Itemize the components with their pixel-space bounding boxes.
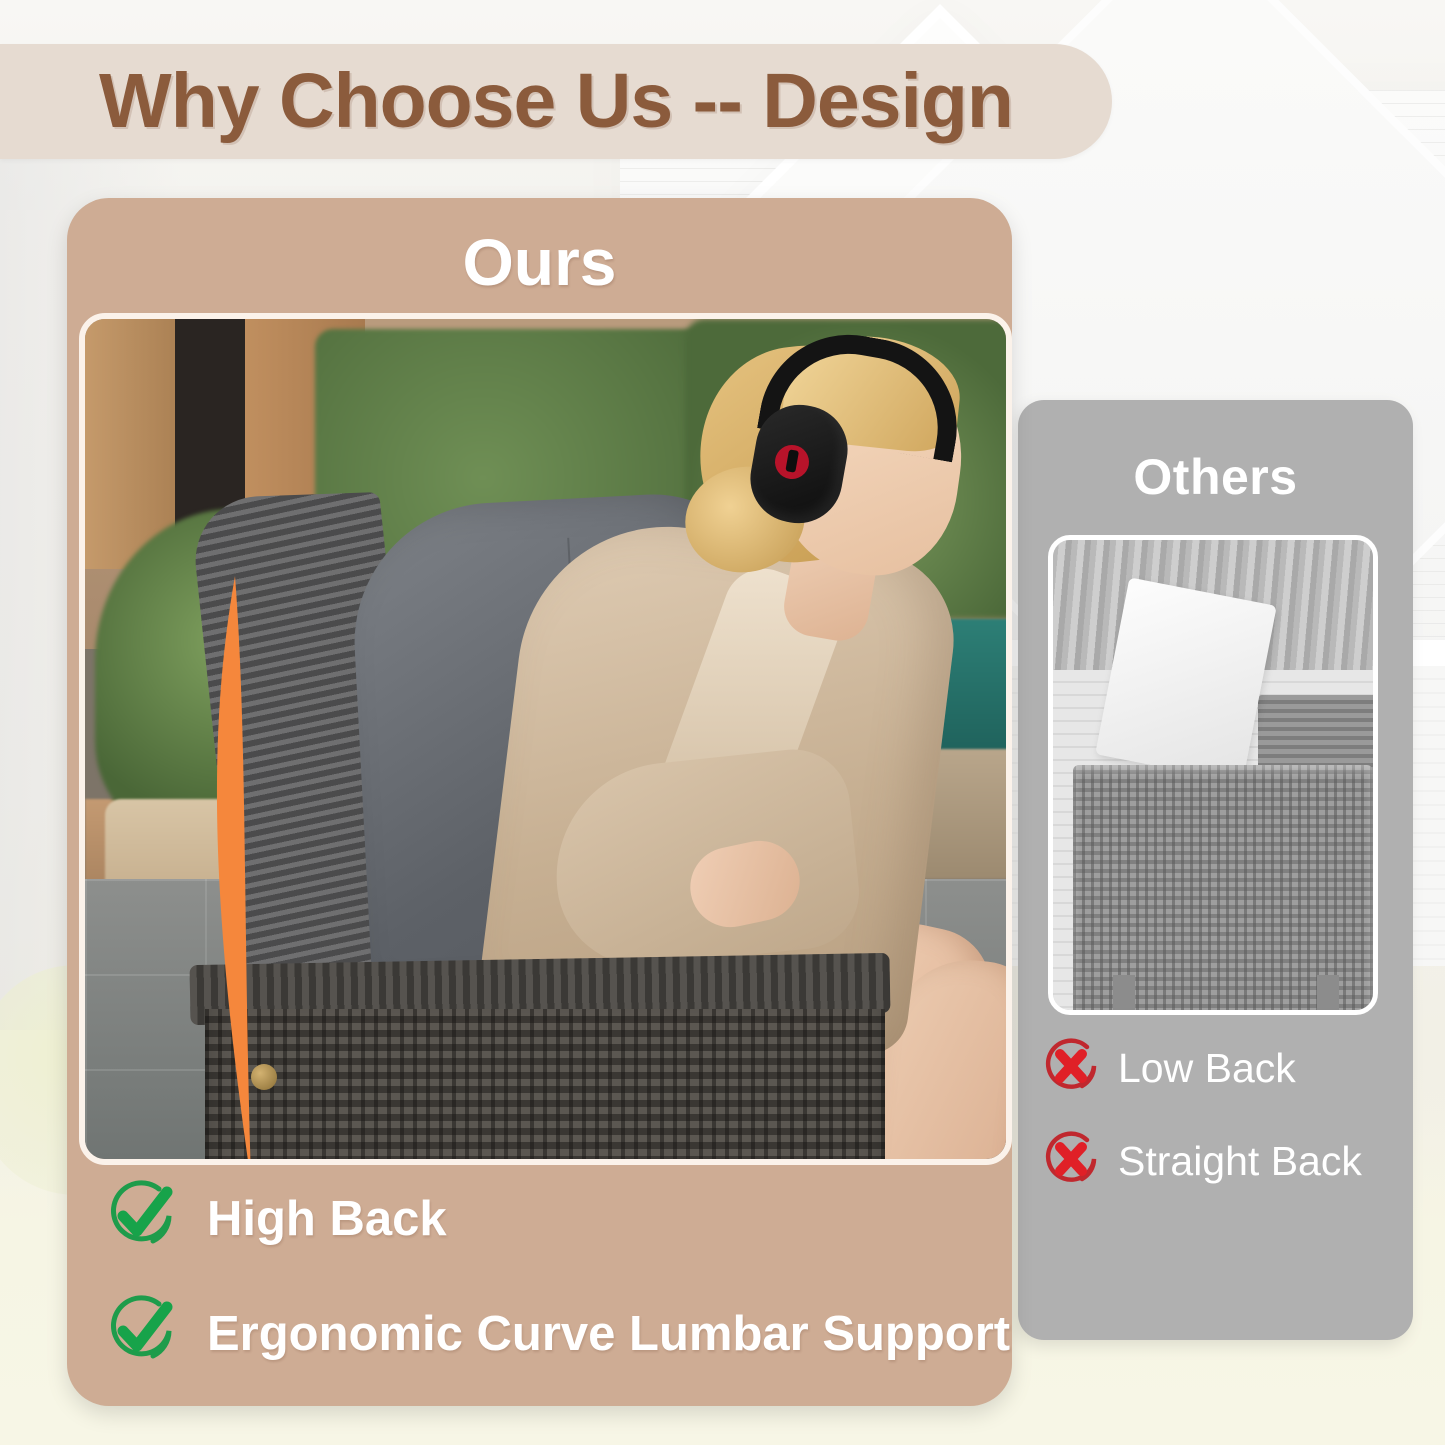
others-wicker-sofa: [1073, 765, 1373, 1015]
list-item: Ergonomic Curve Lumbar Support: [103, 1293, 983, 1374]
ergonomic-curve-indicator: [177, 574, 307, 1165]
list-item-label: Ergonomic Curve Lumbar Support: [207, 1306, 1010, 1362]
red-cross-circle-icon: [1040, 1128, 1102, 1195]
others-panel-title: Others: [1018, 448, 1413, 506]
ours-panel-title: Ours: [67, 224, 1012, 300]
list-item: High Back: [103, 1178, 983, 1259]
others-product-photo: [1048, 535, 1378, 1015]
list-item-label: Straight Back: [1118, 1138, 1362, 1185]
ours-panel: Ours: [67, 198, 1012, 1406]
green-check-circle-icon: [103, 1178, 179, 1259]
chair-wicker-body: [205, 1009, 885, 1165]
headphones-icon: [745, 337, 935, 507]
others-sofa-leg-right: [1317, 975, 1339, 1015]
ours-feature-list: High Back Ergonomic Curve Lumbar Support: [103, 1178, 983, 1408]
list-item-label: Low Back: [1118, 1045, 1296, 1092]
header-banner: Why Choose Us -- Design: [0, 44, 1112, 159]
infographic-canvas: Why Choose Us -- Design Others: [0, 0, 1445, 1445]
green-check-circle-icon: [103, 1293, 179, 1374]
page-title: Why Choose Us -- Design: [99, 57, 1013, 146]
others-sofa-leg-left: [1113, 975, 1135, 1015]
others-feature-list: Low Back Straight Back: [1040, 1035, 1400, 1221]
list-item-label: High Back: [207, 1191, 447, 1247]
list-item: Low Back: [1040, 1035, 1400, 1102]
red-cross-circle-icon: [1040, 1035, 1102, 1102]
ours-product-photo: [79, 313, 1012, 1165]
list-item: Straight Back: [1040, 1128, 1400, 1195]
others-panel: Others Low Back: [1018, 400, 1413, 1340]
